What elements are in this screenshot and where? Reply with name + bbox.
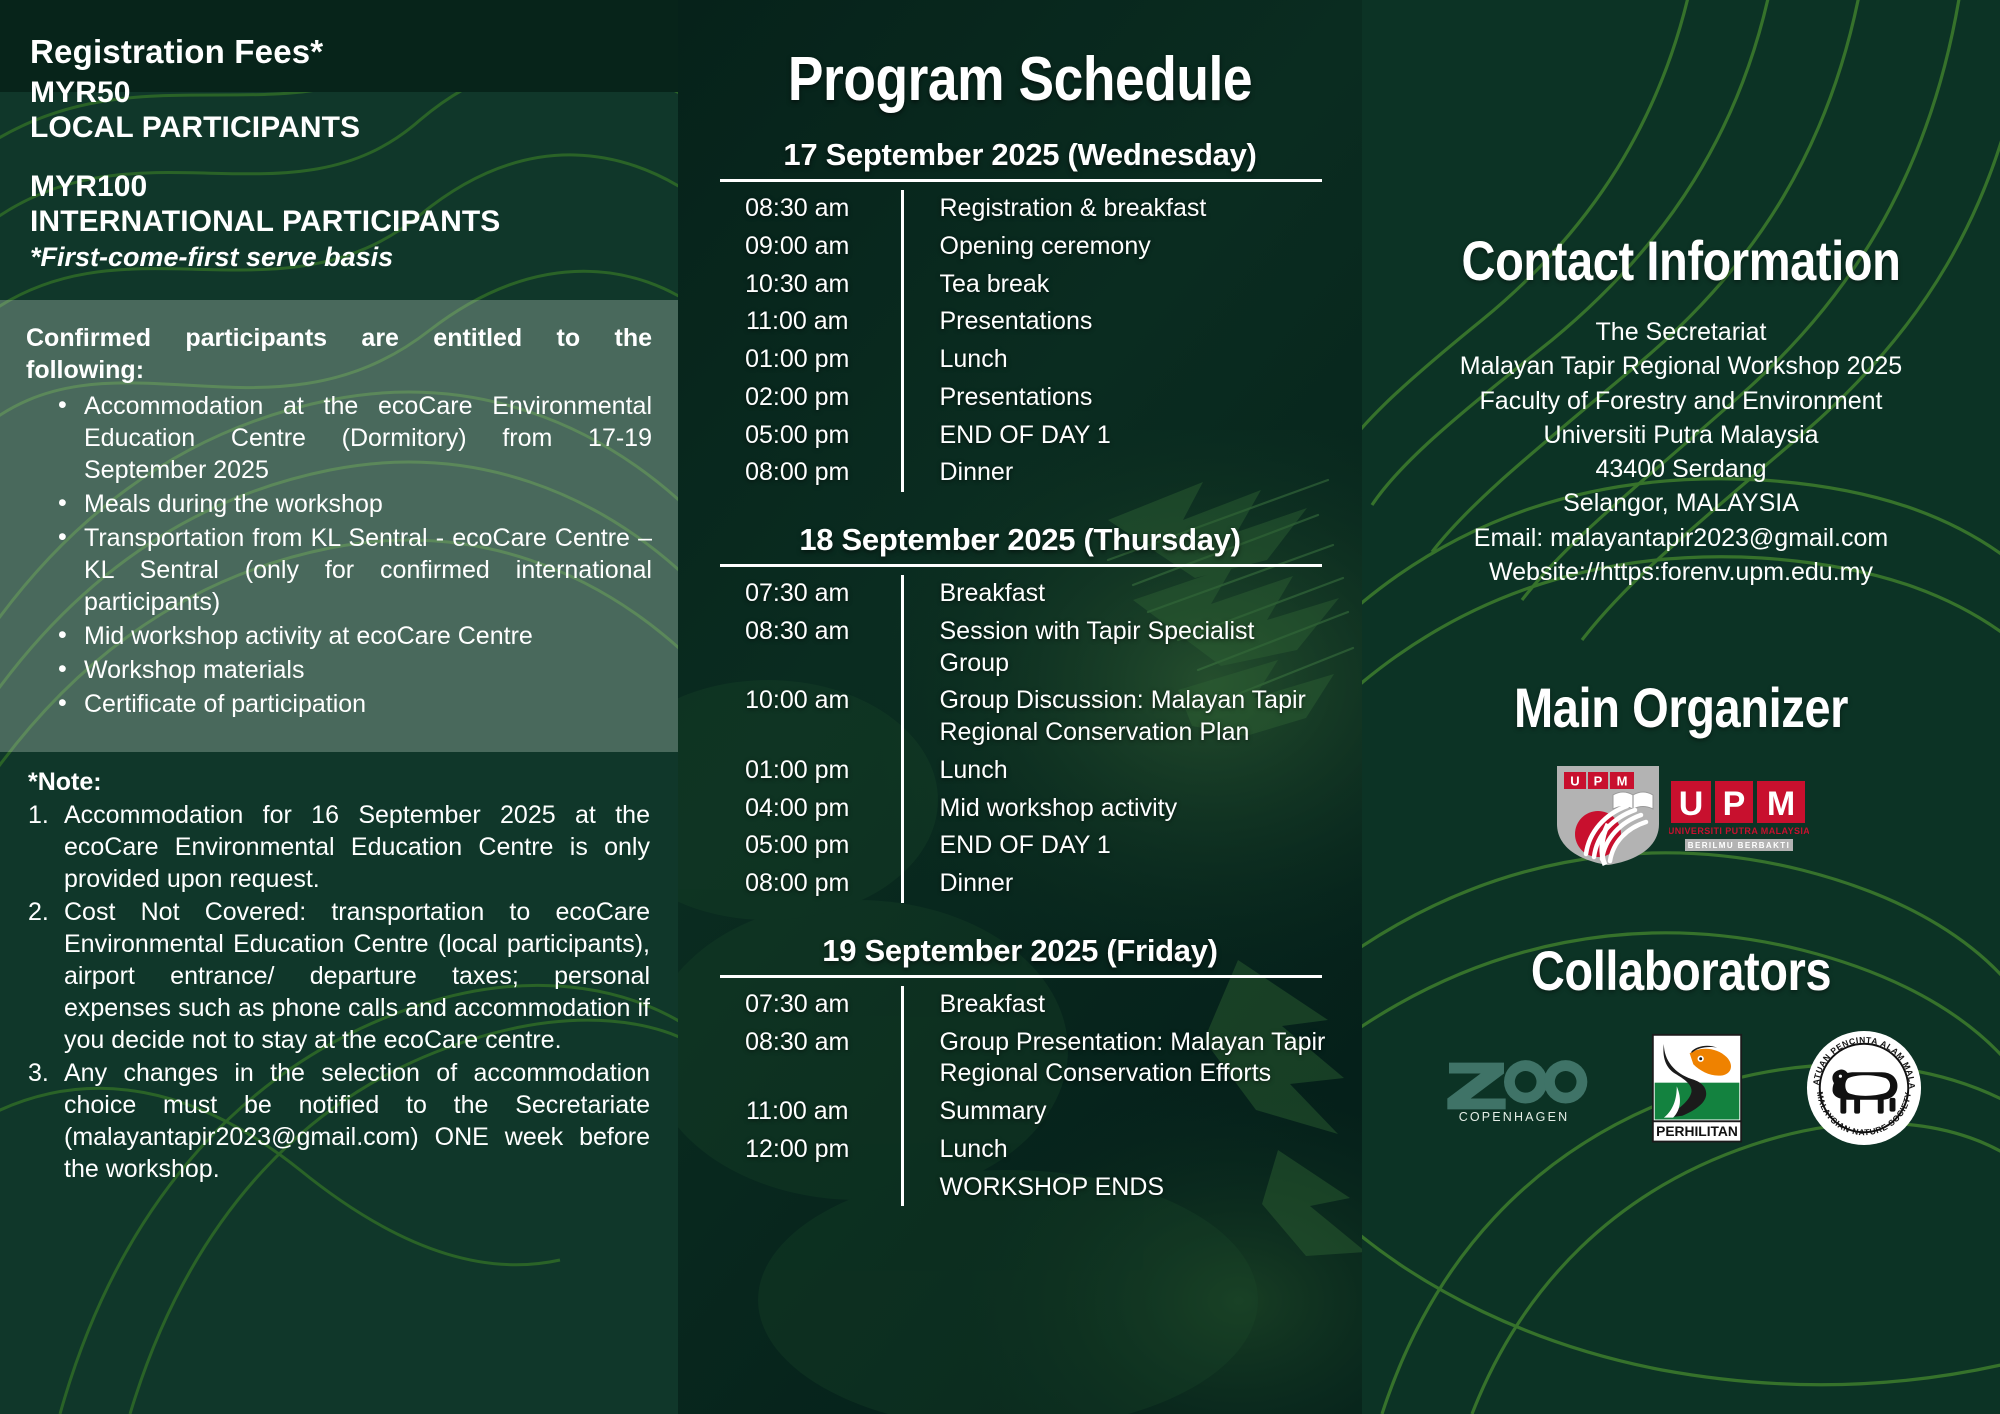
contact-details: The Secretariat Malayan Tapir Regional W… — [1390, 315, 1972, 589]
svg-text:M: M — [1617, 774, 1628, 789]
table-row: 09:00 amOpening ceremony — [712, 228, 1328, 266]
left-panel: Registration Fees* MYR50 LOCAL PARTICIPA… — [0, 0, 678, 1414]
schedule-event: Breakfast — [902, 575, 1328, 613]
table-row: 01:00 pmLunch — [712, 341, 1328, 379]
schedule-event: Group Discussion: Malayan Tapir Regional… — [902, 682, 1328, 752]
schedule-time: 11:00 am — [712, 1093, 902, 1131]
schedule-table-day-3: 07:30 amBreakfast 08:30 amGroup Presenta… — [712, 986, 1328, 1207]
notes-block: *Note: Accommodation for 16 September 20… — [0, 752, 678, 1185]
list-item: Accommodation for 16 September 2025 at t… — [28, 799, 650, 895]
entitlements-heading-line2: following: — [26, 354, 652, 386]
upm-wordmark-icon: U P M UNIVERSITI PUTRA MALAYSIA BERILMU … — [1669, 777, 1809, 853]
schedule-time: 08:00 pm — [712, 454, 902, 492]
svg-text:PERHILITAN: PERHILITAN — [1656, 1124, 1738, 1139]
schedule-time: 05:00 pm — [712, 827, 902, 865]
day-divider — [720, 179, 1322, 182]
svg-text:UNIVERSITI PUTRA MALAYSIA: UNIVERSITI PUTRA MALAYSIA — [1669, 826, 1809, 836]
list-item: Any changes in the selection of accommod… — [28, 1057, 650, 1185]
zoo-copenhagen-logo-icon: COPENHAGEN — [1439, 1051, 1589, 1126]
registration-fees-footnote: *First-come-first serve basis — [30, 242, 648, 273]
table-row: 07:30 amBreakfast — [712, 986, 1328, 1024]
table-row: 08:00 pmDinner — [712, 454, 1328, 492]
schedule-time: 07:30 am — [712, 986, 902, 1024]
schedule-time — [712, 1169, 902, 1207]
brochure-page: Registration Fees* MYR50 LOCAL PARTICIPA… — [0, 0, 2000, 1414]
schedule-event: Session with Tapir Specialist Group — [902, 613, 1328, 683]
schedule-day-2: 18 September 2025 (Thursday) 07:30 amBre… — [712, 522, 1328, 903]
schedule-table-day-2: 07:30 amBreakfast 08:30 amSession with T… — [712, 575, 1328, 903]
entitlements-heading: Confirmed participants are entitled to t… — [26, 322, 652, 386]
table-row: WORKSHOP ENDS — [712, 1169, 1328, 1207]
schedule-time: 04:00 pm — [712, 790, 902, 828]
schedule-event: Group Presentation: Malayan Tapir Region… — [902, 1024, 1328, 1094]
table-row: 10:00 amGroup Discussion: Malayan Tapir … — [712, 682, 1328, 752]
table-row: 01:00 pmLunch — [712, 752, 1328, 790]
list-item: Accommodation at the ecoCare Environment… — [54, 390, 652, 486]
table-row: 08:30 amSession with Tapir Specialist Gr… — [712, 613, 1328, 683]
list-item: Workshop materials — [54, 654, 652, 686]
right-panel-content: Contact Information The Secretariat Mala… — [1362, 228, 2000, 1147]
registration-fees-title: Registration Fees* — [30, 34, 648, 71]
local-fee-amount: MYR50 — [30, 75, 648, 110]
table-row: 10:30 amTea break — [712, 266, 1328, 304]
international-fee-label: INTERNATIONAL PARTICIPANTS — [30, 204, 648, 239]
entitlements-heading-line1: Confirmed participants are entitled to t… — [26, 324, 652, 352]
schedule-event: Mid workshop activity — [902, 790, 1328, 828]
schedule-time: 08:00 pm — [712, 865, 902, 903]
collaborator-logo-row: COPENHAGEN PERHILITAN — [1390, 1029, 1972, 1147]
schedule-time: 09:00 am — [712, 228, 902, 266]
entitlements-list: Accommodation at the ecoCare Environment… — [26, 390, 652, 720]
table-row: 11:00 amPresentations — [712, 303, 1328, 341]
organizer-logo-row: U P M — [1390, 762, 1972, 868]
list-item: Certificate of participation — [54, 688, 652, 720]
entitlements-box: Confirmed participants are entitled to t… — [0, 300, 678, 752]
contact-line: Faculty of Forestry and Environment — [1390, 384, 1972, 418]
schedule-event: Tea break — [902, 266, 1328, 304]
schedule-time: 02:00 pm — [712, 379, 902, 417]
contact-line: 43400 Serdang — [1390, 452, 1972, 486]
schedule-time: 05:00 pm — [712, 417, 902, 455]
notes-title: *Note: — [28, 768, 650, 797]
svg-text:M: M — [1767, 785, 1795, 823]
contact-information-title: Contact Information — [1437, 228, 1926, 293]
svg-text:U: U — [1570, 774, 1579, 789]
main-organizer-title: Main Organizer — [1437, 675, 1926, 740]
program-schedule-title: Program Schedule — [755, 44, 1285, 115]
contact-line: Universiti Putra Malaysia — [1390, 418, 1972, 452]
schedule-event: Presentations — [902, 303, 1328, 341]
day-heading: 17 September 2025 (Wednesday) — [712, 137, 1328, 173]
schedule-event: WORKSHOP ENDS — [902, 1169, 1328, 1207]
schedule-event: Summary — [902, 1093, 1328, 1131]
schedule-event: END OF DAY 1 — [902, 417, 1328, 455]
table-row: 12:00 pmLunch — [712, 1131, 1328, 1169]
day-divider — [720, 975, 1322, 978]
contact-line: The Secretariat — [1390, 315, 1972, 349]
notes-list: Accommodation for 16 September 2025 at t… — [28, 799, 650, 1185]
collaborators-title: Collaborators — [1437, 938, 1926, 1003]
schedule-day-1: 17 September 2025 (Wednesday) 08:30 amRe… — [712, 137, 1328, 492]
schedule-day-3: 19 September 2025 (Friday) 07:30 amBreak… — [712, 933, 1328, 1207]
svg-text:BERILMU BERBAKTI: BERILMU BERBAKTI — [1688, 841, 1790, 850]
svg-text:COPENHAGEN: COPENHAGEN — [1459, 1110, 1570, 1124]
contact-line: Malayan Tapir Regional Workshop 2025 — [1390, 349, 1972, 383]
day-heading: 18 September 2025 (Thursday) — [712, 522, 1328, 558]
schedule-time: 11:00 am — [712, 303, 902, 341]
schedule-time: 01:00 pm — [712, 341, 902, 379]
table-row: 08:30 amGroup Presentation: Malayan Tapi… — [712, 1024, 1328, 1094]
schedule-time: 08:30 am — [712, 613, 902, 683]
svg-text:U: U — [1679, 785, 1704, 823]
perhilitan-logo-icon: PERHILITAN — [1651, 1033, 1743, 1143]
contact-website[interactable]: Website://https:forenv.upm.edu.my — [1390, 555, 1972, 589]
local-fee-label: LOCAL PARTICIPANTS — [30, 110, 648, 145]
schedule-time: 07:30 am — [712, 575, 902, 613]
book-icon — [1613, 792, 1653, 809]
table-row: 04:00 pmMid workshop activity — [712, 790, 1328, 828]
list-item: Transportation from KL Sentral - ecoCare… — [54, 522, 652, 618]
upm-shield-icon: U P M — [1553, 762, 1663, 868]
table-row: 02:00 pmPresentations — [712, 379, 1328, 417]
schedule-event: Lunch — [902, 341, 1328, 379]
table-row: 07:30 amBreakfast — [712, 575, 1328, 613]
schedule-event: Breakfast — [902, 986, 1328, 1024]
table-row: 05:00 pmEND OF DAY 1 — [712, 417, 1328, 455]
schedule-time: 10:30 am — [712, 266, 902, 304]
schedule-content: Program Schedule 17 September 2025 (Wedn… — [678, 0, 1362, 1206]
list-item: Meals during the workshop — [54, 488, 652, 520]
schedule-table-day-1: 08:30 amRegistration & breakfast 09:00 a… — [712, 190, 1328, 492]
contact-line: Selangor, MALAYSIA — [1390, 486, 1972, 520]
table-row: 05:00 pmEND OF DAY 1 — [712, 827, 1328, 865]
malaysian-nature-society-logo-icon: PERSATUAN PENCINTA ALAM MALAYSIA MALAYSI… — [1805, 1029, 1923, 1147]
schedule-event: Lunch — [902, 1131, 1328, 1169]
schedule-time: 12:00 pm — [712, 1131, 902, 1169]
international-fee-amount: MYR100 — [30, 169, 648, 204]
schedule-event: Opening ceremony — [902, 228, 1328, 266]
svg-text:P: P — [1723, 785, 1746, 823]
registration-fees-block: Registration Fees* MYR50 LOCAL PARTICIPA… — [0, 0, 678, 273]
schedule-event: Lunch — [902, 752, 1328, 790]
schedule-time: 10:00 am — [712, 682, 902, 752]
schedule-event: Registration & breakfast — [902, 190, 1328, 228]
table-row: 08:30 amRegistration & breakfast — [712, 190, 1328, 228]
schedule-time: 08:30 am — [712, 1024, 902, 1094]
day-divider — [720, 564, 1322, 567]
list-item: Mid workshop activity at ecoCare Centre — [54, 620, 652, 652]
day-heading: 19 September 2025 (Friday) — [712, 933, 1328, 969]
table-row: 11:00 amSummary — [712, 1093, 1328, 1131]
table-row: 08:00 pmDinner — [712, 865, 1328, 903]
right-panel: Contact Information The Secretariat Mala… — [1362, 0, 2000, 1414]
svg-text:P: P — [1594, 774, 1603, 789]
schedule-event: Presentations — [902, 379, 1328, 417]
schedule-time: 08:30 am — [712, 190, 902, 228]
contact-email[interactable]: Email: malayantapir2023@gmail.com — [1390, 521, 1972, 555]
list-item: Cost Not Covered: transportation to ecoC… — [28, 896, 650, 1056]
schedule-event: Dinner — [902, 865, 1328, 903]
schedule-event: END OF DAY 1 — [902, 827, 1328, 865]
schedule-event: Dinner — [902, 454, 1328, 492]
schedule-time: 01:00 pm — [712, 752, 902, 790]
middle-panel: Program Schedule 17 September 2025 (Wedn… — [678, 0, 1362, 1414]
